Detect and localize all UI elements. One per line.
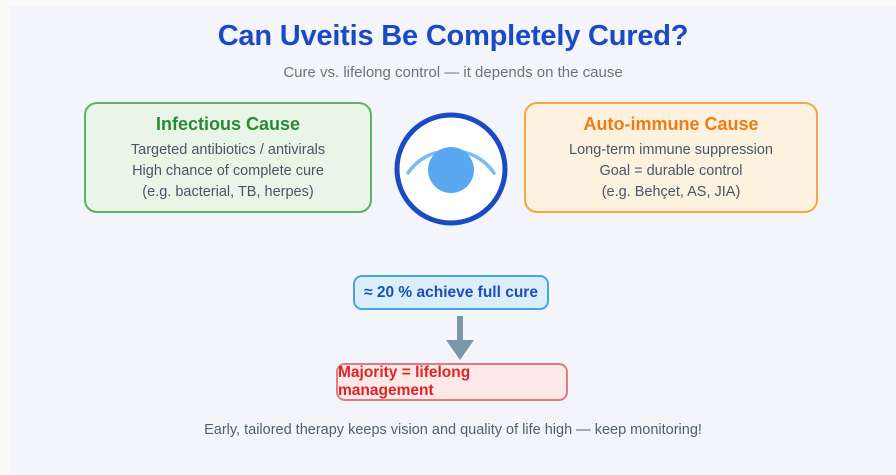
card-infectious-heading: Infectious Cause — [86, 114, 370, 135]
card-autoimmune-line-1: Long-term immune suppression — [526, 140, 816, 161]
card-autoimmune-cause: Auto-immune Cause Long-term immune suppr… — [524, 102, 818, 213]
status-badge-cure-rate: ≈ 20 % achieve full cure — [353, 275, 549, 310]
card-autoimmune-line-3: (e.g. Behçet, AS, JIA) — [526, 182, 816, 203]
card-infectious-line-2: High chance of complete cure — [86, 161, 370, 182]
down-arrow-icon — [442, 316, 478, 361]
card-infectious-line-1: Targeted antibiotics / antivirals — [86, 140, 370, 161]
footer-note: Early, tailored therapy keeps vision and… — [10, 422, 896, 438]
page-subtitle: Cure vs. lifelong control — it depends o… — [10, 64, 896, 81]
status-badge-majority: Majority = lifelong management — [336, 363, 568, 401]
card-autoimmune-heading: Auto-immune Cause — [526, 114, 816, 135]
card-infectious-cause: Infectious Cause Targeted antibiotics / … — [84, 102, 372, 213]
page-title: Can Uveitis Be Completely Cured? — [10, 20, 896, 53]
eye-icon — [392, 110, 510, 228]
infographic-canvas: Can Uveitis Be Completely Cured? Cure vs… — [10, 6, 896, 475]
card-autoimmune-line-2: Goal = durable control — [526, 161, 816, 182]
card-infectious-line-3: (e.g. bacterial, TB, herpes) — [86, 182, 370, 203]
